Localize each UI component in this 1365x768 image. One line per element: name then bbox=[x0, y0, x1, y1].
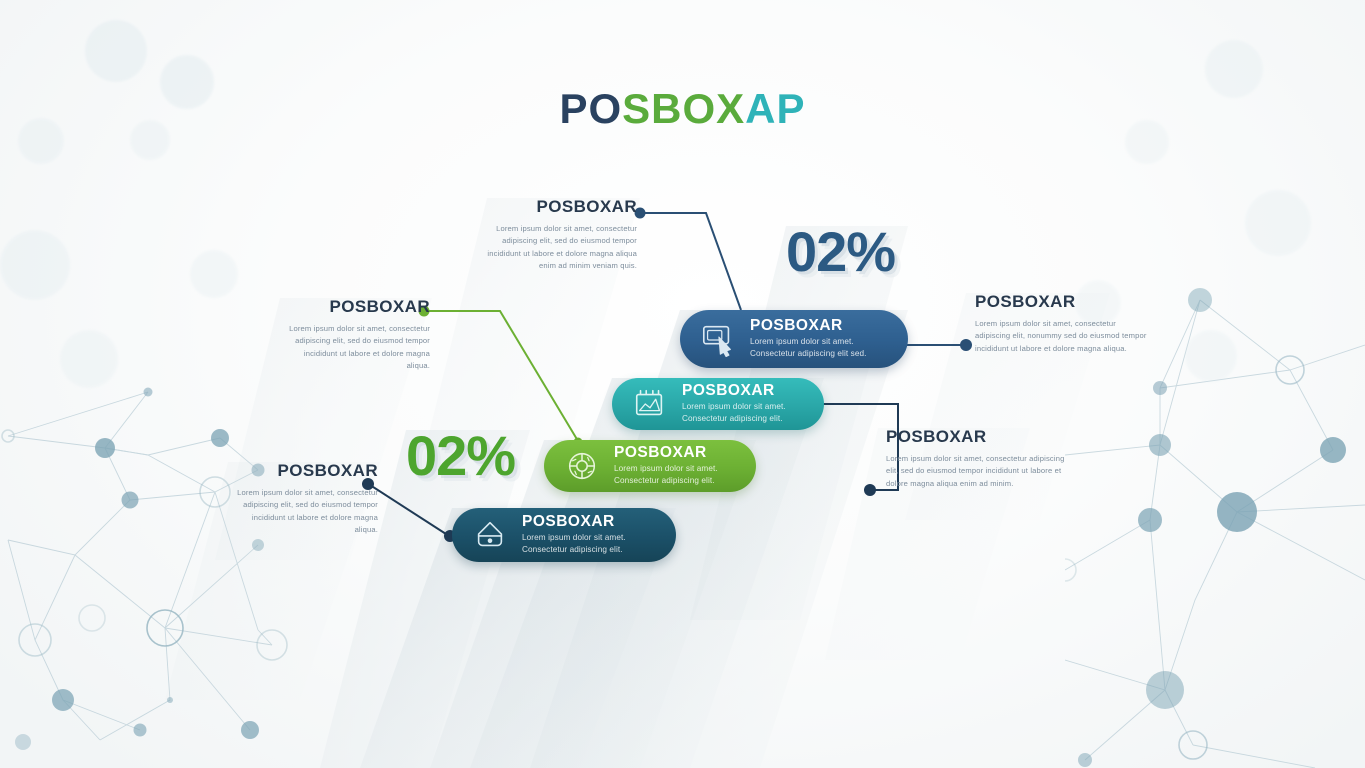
text-block-upper-left-body: Lorem ipsum dolor sit amet, consectetur … bbox=[280, 323, 430, 372]
stat-value-green: 02% bbox=[406, 428, 515, 484]
page-title: POSBOXAP bbox=[0, 88, 1365, 130]
title-part-c: AP bbox=[745, 85, 805, 132]
feature-pill-blue-line2: Consectetur adipiscing elit sed. bbox=[750, 349, 867, 360]
text-block-upper-right-body: Lorem ipsum dolor sit amet, consectetur … bbox=[975, 318, 1150, 355]
connector-top bbox=[644, 213, 741, 310]
text-block-top-title: POSBOXAR bbox=[487, 198, 637, 215]
text-block-lower-left-body: Lorem ipsum dolor sit amet, consectetur … bbox=[228, 487, 378, 536]
connector-green bbox=[428, 311, 578, 441]
stat-value-blue: 02% bbox=[786, 224, 895, 280]
refresh-cycle-icon bbox=[562, 447, 602, 485]
wallet-bag-icon bbox=[470, 516, 510, 554]
text-block-lower-right-title: POSBOXAR bbox=[886, 428, 1071, 445]
feature-pill-teal-line1: Lorem ipsum dolor sit amet. bbox=[682, 402, 786, 413]
connector-dot-right1 bbox=[960, 339, 972, 351]
text-block-upper-left-title: POSBOXAR bbox=[280, 298, 430, 315]
feature-pill-blue[interactable]: POSBOXAR Lorem ipsum dolor sit amet. Con… bbox=[680, 310, 908, 368]
feature-pill-green-line2: Consectetur adipiscing elit. bbox=[614, 476, 718, 487]
chart-image-icon bbox=[630, 385, 670, 423]
feature-pill-dark-teal-title: POSBOXAR bbox=[522, 514, 626, 530]
feature-pill-blue-title: POSBOXAR bbox=[750, 318, 867, 334]
title-part-b: SBOX bbox=[622, 85, 745, 132]
text-block-top: POSBOXAR Lorem ipsum dolor sit amet, con… bbox=[487, 198, 637, 272]
feature-pill-teal-title: POSBOXAR bbox=[682, 383, 786, 399]
connector-dot-right2 bbox=[864, 484, 876, 496]
connector-lowleft bbox=[370, 485, 446, 534]
feature-pill-teal-line2: Consectetur adipiscing elit. bbox=[682, 414, 786, 425]
feature-pill-green-line1: Lorem ipsum dolor sit amet. bbox=[614, 464, 718, 475]
feature-pill-green[interactable]: POSBOXAR Lorem ipsum dolor sit amet. Con… bbox=[544, 440, 756, 492]
text-block-upper-right-title: POSBOXAR bbox=[975, 293, 1150, 310]
text-block-upper-right: POSBOXAR Lorem ipsum dolor sit amet, con… bbox=[975, 293, 1150, 355]
text-block-lower-left: POSBOXAR Lorem ipsum dolor sit amet, con… bbox=[228, 462, 378, 536]
click-screen-icon bbox=[698, 320, 738, 358]
text-block-lower-left-title: POSBOXAR bbox=[228, 462, 378, 479]
feature-pill-blue-line1: Lorem ipsum dolor sit amet. bbox=[750, 337, 867, 348]
title-part-a: PO bbox=[559, 85, 622, 132]
text-block-lower-right-body: Lorem ipsum dolor sit amet, consectetur … bbox=[886, 453, 1071, 490]
infographic-canvas: POSBOXAP bbox=[0, 0, 1365, 768]
feature-pill-teal[interactable]: POSBOXAR Lorem ipsum dolor sit amet. Con… bbox=[612, 378, 824, 430]
feature-pill-dark-teal[interactable]: POSBOXAR Lorem ipsum dolor sit amet. Con… bbox=[452, 508, 676, 562]
feature-pill-dark-teal-line1: Lorem ipsum dolor sit amet. bbox=[522, 533, 626, 544]
text-block-upper-left: POSBOXAR Lorem ipsum dolor sit amet, con… bbox=[280, 298, 430, 372]
feature-pill-green-title: POSBOXAR bbox=[614, 445, 718, 461]
feature-pill-dark-teal-line2: Consectetur adipiscing elit. bbox=[522, 545, 626, 556]
text-block-lower-right: POSBOXAR Lorem ipsum dolor sit amet, con… bbox=[886, 428, 1071, 490]
text-block-top-body: Lorem ipsum dolor sit amet, consectetur … bbox=[487, 223, 637, 272]
